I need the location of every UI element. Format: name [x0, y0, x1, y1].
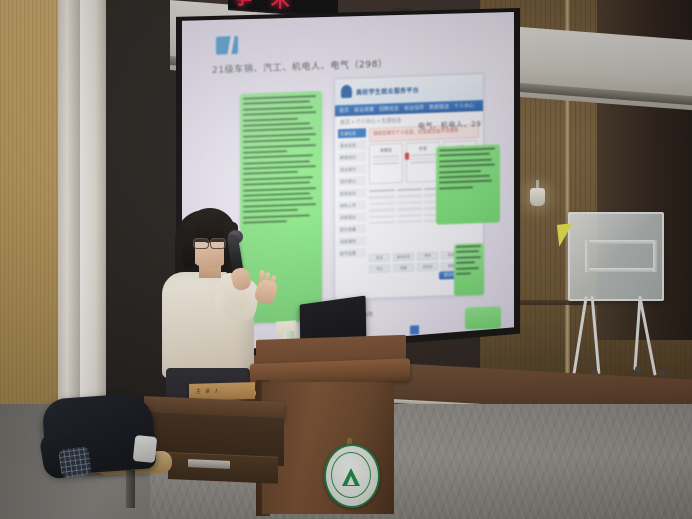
nav-item-5[interactable]: 个人中心: [454, 102, 474, 110]
lecture-hall-photo: 学 术 21级车销、汽工、机电人、电气（298） ···: [0, 0, 692, 519]
nav-item-0[interactable]: 首页: [339, 107, 349, 114]
nav-item-3[interactable]: 就业指导: [404, 104, 424, 112]
whiteboard-rail-right: [653, 240, 657, 272]
jacket-plaid-lining: [58, 446, 92, 478]
site-logo-text: 高校学生就业服务平台: [356, 85, 419, 96]
required-marker-icon: [405, 153, 409, 160]
mobile-glass-whiteboard: [568, 212, 664, 301]
university-crest-emblem: [324, 444, 380, 508]
portal-crest-icon: [341, 85, 352, 98]
slide-title: 21级车销、汽工、机电人、电气（298）: [212, 56, 388, 75]
left-wall-strip-outer: [80, 0, 106, 452]
sidebar-item-10[interactable]: 账号设置: [338, 248, 366, 258]
easel-caster: [635, 366, 641, 372]
nameplate-text: 主 讲 人: [196, 388, 252, 395]
sidebar-item-6[interactable]: 材料上传: [338, 200, 366, 210]
white-item-on-chair: [133, 435, 158, 463]
form-field-5[interactable]: 班级: [393, 263, 414, 272]
sidebar-item-8[interactable]: 职位收藏: [338, 224, 366, 234]
form-field-4[interactable]: 专业: [369, 264, 390, 273]
sidebar-item-0[interactable]: 生源信息: [338, 128, 366, 138]
chat-bubble-secondary: [436, 144, 500, 224]
nav-item-2[interactable]: 招聘信息: [379, 105, 399, 113]
slide-title-dots: ···: [332, 60, 339, 67]
chair-post: [126, 470, 135, 508]
slide-mini-icon: [410, 325, 419, 334]
sidebar-item-1[interactable]: 基本信息: [338, 140, 366, 150]
left-wood-panel: [0, 0, 58, 438]
sidebar-item-4[interactable]: 签约登记: [338, 176, 366, 186]
glasses-lens-right-icon: [210, 238, 226, 249]
chat-bubble-tertiary: [454, 243, 484, 296]
slide-badge-icon: [216, 36, 238, 55]
form-field-1[interactable]: 身份证号: [393, 252, 414, 261]
whiteboard-rail-bottom: [585, 268, 657, 272]
glasses-bridge-icon: [206, 242, 211, 243]
breadcrumb: 首页 > 个人中心 > 生源信息: [340, 117, 401, 126]
left-wall-strip: [58, 0, 80, 446]
yellow-triangle-flag: [557, 223, 575, 247]
option-card-title-1: 升学: [409, 146, 437, 153]
sidebar-item-5[interactable]: 批准协议: [338, 188, 366, 198]
nav-item-1[interactable]: 就业政策: [354, 106, 374, 114]
sidebar-item-9[interactable]: 消息通知: [338, 236, 366, 246]
glasses-lens-left-icon: [193, 238, 209, 249]
option-card-0[interactable]: 未就业: [369, 143, 403, 184]
site-sidebar[interactable]: 生源信息 基本信息 教育经历 就业意向 签约登记 批准协议 材料上传 求职简历 …: [338, 128, 366, 289]
option-card-title-0: 未就业: [372, 147, 400, 154]
whiteboard-rail-left: [585, 240, 589, 272]
form-field-2[interactable]: 学号: [417, 252, 438, 261]
sidebar-item-3[interactable]: 就业意向: [338, 164, 366, 174]
sidebar-item-2[interactable]: 教育经历: [338, 152, 366, 162]
sidebar-item-7[interactable]: 求职简历: [338, 212, 366, 222]
chat-bubble-small: [465, 306, 501, 329]
wall-sconce-light: [530, 188, 545, 206]
easel-caster: [659, 370, 665, 376]
form-field-0[interactable]: 姓名: [369, 253, 390, 262]
form-field-6[interactable]: 手机号: [417, 263, 438, 272]
nav-item-4[interactable]: 数据报送: [429, 103, 449, 111]
whiteboard-rail-top: [585, 240, 657, 244]
emblem-triangle-inner-icon: [347, 476, 355, 485]
option-card-1[interactable]: 升学: [406, 142, 440, 183]
